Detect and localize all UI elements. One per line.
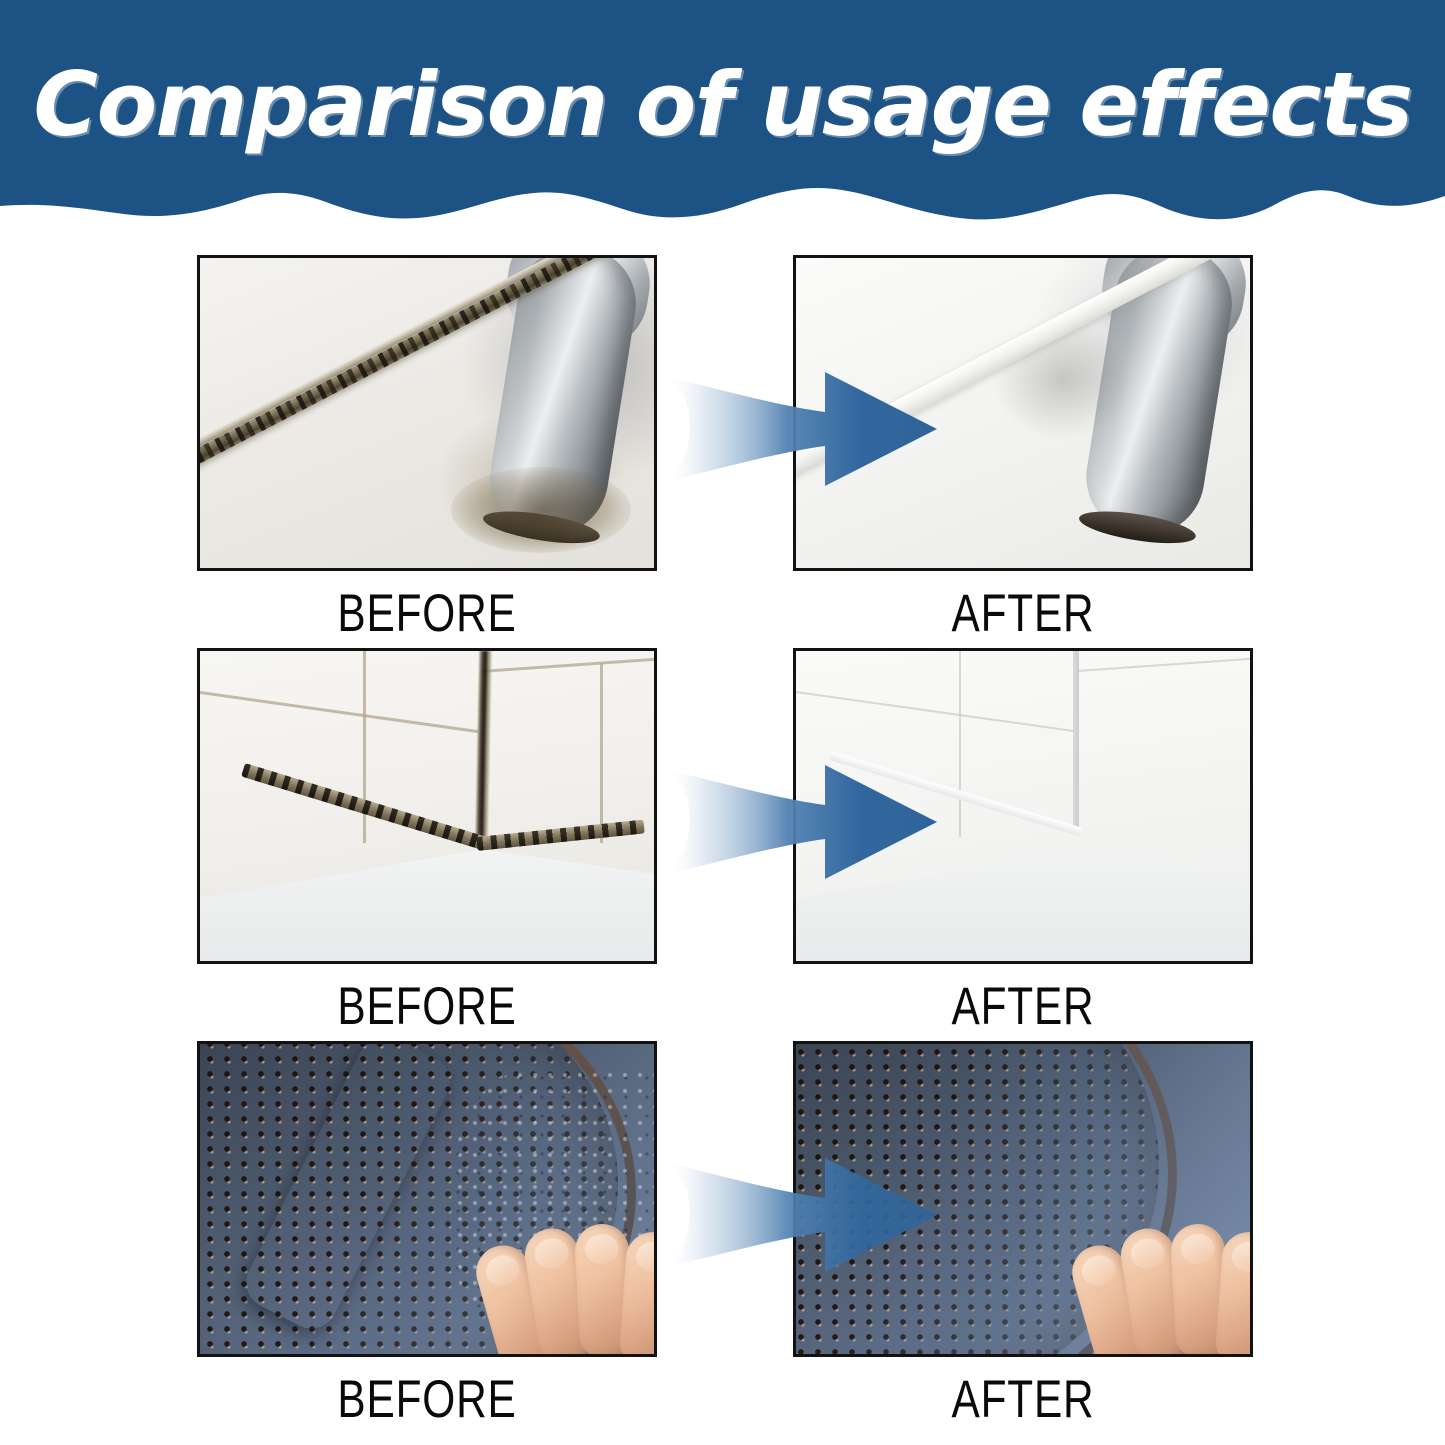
after-cell-washing-machine-drum: AFTER [793,1041,1253,1357]
grout-line [1077,657,1253,672]
after-photo-frame [793,1041,1253,1357]
before-photo-caulk-seam [200,258,654,568]
after-photo-drum [796,1044,1250,1354]
grout-line [600,663,603,843]
after-photo-caulk-seam [796,258,1250,568]
after-cell-tile-corner: AFTER [793,648,1253,964]
before-cell-washing-machine-drum: BEFORE [197,1041,657,1357]
comparison-grid: BEFORE [0,232,1445,1411]
faucet-base-grime [451,467,631,553]
clean-vertical-corner-grout [1073,651,1079,831]
before-photo-frame [197,1041,657,1357]
header-banner: Comparison of usage effects [0,0,1445,232]
before-photo-drum [200,1044,654,1354]
clean-base-seam [829,751,1083,837]
after-photo-frame [793,255,1253,571]
mouldy-vertical-corner-grout [475,651,492,843]
after-cell-caulk-seam: AFTER [793,255,1253,571]
before-photo-tile-corner [200,651,654,961]
hand [1079,1198,1253,1357]
before-cell-caulk-seam: BEFORE [197,255,657,571]
hand [483,1198,657,1357]
grout-line [959,651,961,837]
before-photo-frame [197,255,657,571]
after-photo-frame [793,648,1253,964]
grout-line [796,691,1075,732]
after-photo-tile-corner [796,651,1250,961]
grout-line [200,691,479,733]
before-photo-frame [197,648,657,964]
tub-floor [200,849,654,961]
tub-floor [796,849,1250,961]
comparison-row-tile-corner: BEFORE [0,625,1445,1018]
before-cell-tile-corner: BEFORE [197,648,657,964]
grout-line [481,657,657,673]
comparison-row-washing-machine-drum: BEFORE [0,1018,1445,1411]
mouldy-right-base-grout [476,819,645,850]
before-label: BEFORE [243,1371,611,1429]
after-label: AFTER [839,1371,1207,1429]
page-title: Comparison of usage effects [0,53,1445,157]
comparison-row-caulk-seam: BEFORE [0,232,1445,625]
